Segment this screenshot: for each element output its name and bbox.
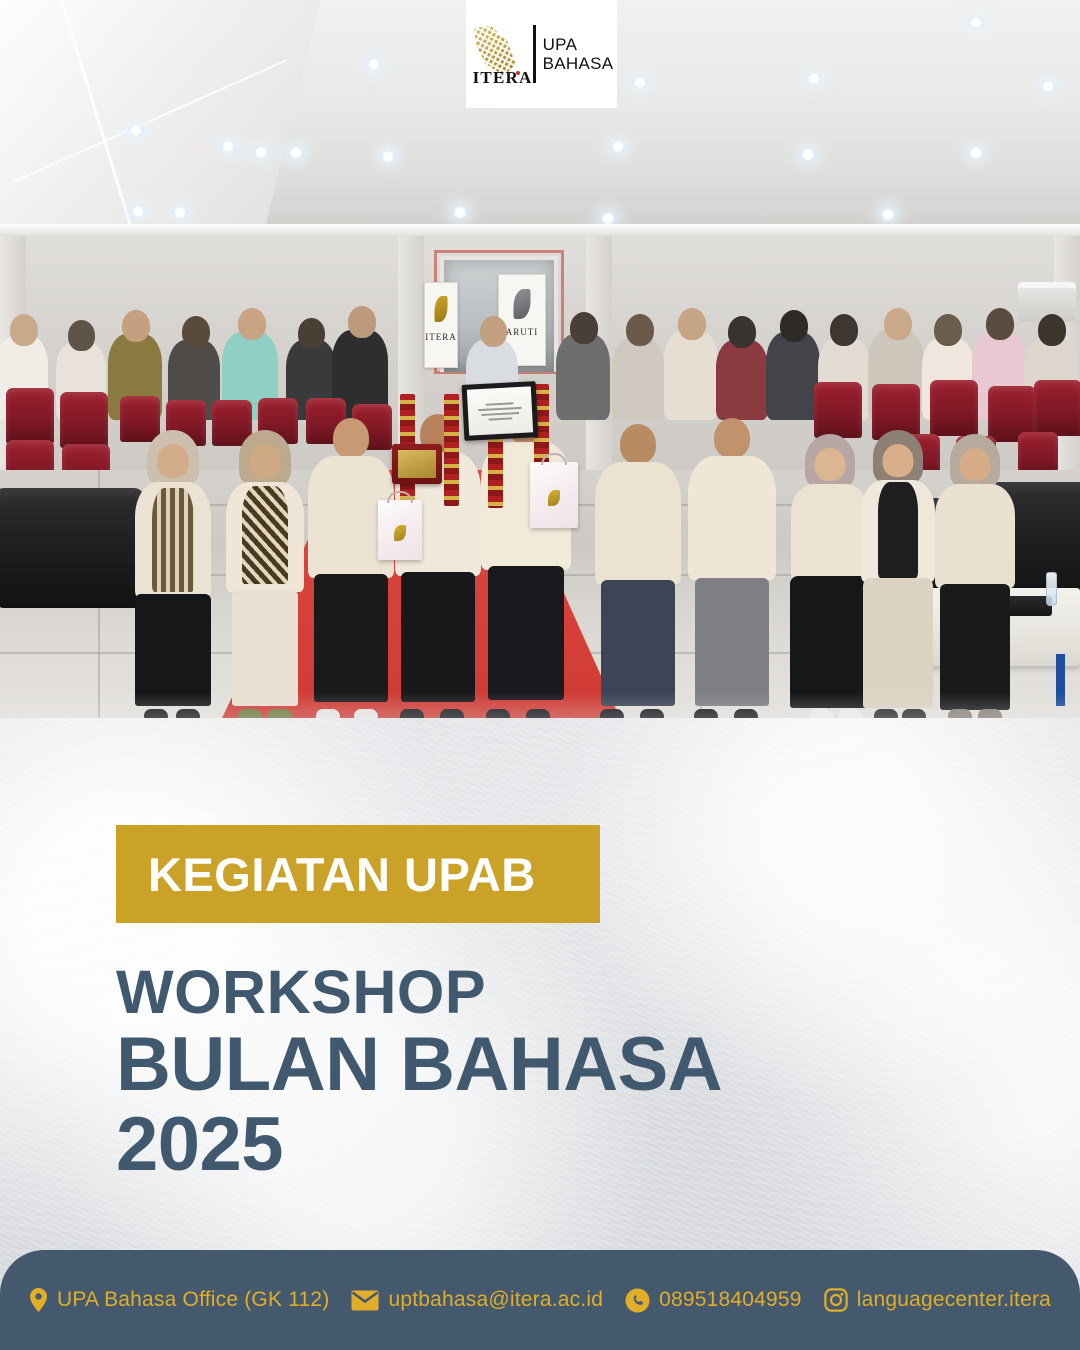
person-front-row	[306, 408, 396, 718]
itera-feather-icon: ITERA	[470, 22, 526, 86]
category-badge-label: KEGIATAN UPAB	[116, 847, 536, 902]
ceiling-spotlight	[452, 206, 468, 219]
ceiling-spotlight	[288, 146, 304, 159]
ceiling-spotlight	[968, 16, 984, 29]
ceiling-spotlight	[380, 150, 396, 163]
contact-item-address[interactable]: UPA Bahasa Office (GK 112)	[29, 1288, 330, 1312]
contact-item-whatsapp[interactable]: 089518404959	[625, 1288, 802, 1313]
person-front-row	[856, 416, 940, 718]
water-bottle	[1046, 572, 1057, 606]
person-front-row	[592, 412, 684, 718]
itera-wordmark: ITERA	[473, 68, 533, 88]
headline-block: WORKSHOP BULAN BAHASA 2025	[116, 960, 976, 1186]
award-plaque	[392, 444, 442, 484]
person-front-row	[130, 418, 216, 718]
framed-certificate	[462, 381, 539, 441]
upa-bahasa-logo-mark	[394, 525, 406, 541]
email-text: uptbahasa@itera.ac.id	[388, 1288, 603, 1312]
gift-bag	[530, 462, 578, 528]
location-pin-icon	[29, 1288, 48, 1312]
contact-item-instagram[interactable]: languagecenter.itera	[824, 1288, 1051, 1312]
ceiling-spotlight	[366, 58, 382, 71]
ceiling-spotlight	[800, 148, 816, 161]
gift-bag	[378, 500, 422, 560]
instagram-icon	[824, 1288, 848, 1312]
ceiling-spotlight	[1040, 80, 1056, 93]
ceiling-spotlight	[128, 124, 144, 137]
logo-unit-name: UPA BAHASA	[543, 35, 614, 73]
contact-item-email[interactable]: uptbahasa@itera.ac.id	[351, 1288, 603, 1312]
poster-canvas: ITERA ARUTI	[0, 0, 1080, 1350]
event-title: BULAN BAHASA 2025	[116, 1025, 976, 1186]
person-front-row	[222, 418, 308, 718]
ceiling-spotlight	[968, 146, 984, 159]
instagram-handle-text: languagecenter.itera	[857, 1288, 1051, 1312]
photo-bottom-fade	[0, 692, 1080, 718]
address-text: UPA Bahasa Office (GK 112)	[57, 1288, 330, 1312]
ceiling-spotlight	[253, 146, 269, 159]
logo-unit-line-2: BAHASA	[543, 54, 614, 73]
ceiling-spotlight	[806, 72, 822, 85]
sofa	[0, 488, 144, 608]
whatsapp-icon	[625, 1288, 650, 1313]
person-front-row	[932, 418, 1018, 718]
traditional-sash	[444, 394, 459, 506]
ceiling-spotlight	[220, 140, 236, 153]
logo-divider	[533, 25, 536, 83]
event-subtitle: WORKSHOP	[116, 960, 976, 1025]
ceiling-spotlight	[172, 206, 188, 219]
logo-unit-line-1: UPA	[543, 35, 614, 54]
upa-bahasa-itera-logo-card: ITERA UPA BAHASA	[466, 0, 617, 108]
person-front-row	[686, 410, 778, 718]
whatsapp-number-text: 089518404959	[659, 1288, 802, 1312]
ceiling-spotlight	[130, 205, 146, 218]
ceiling-spotlight	[632, 76, 648, 89]
ceiling-spotlight	[610, 140, 626, 153]
category-badge: KEGIATAN UPAB	[116, 825, 600, 923]
ceiling-spotlight	[880, 208, 896, 221]
upa-bahasa-logo-mark	[548, 490, 560, 506]
contact-footer-bar: UPA Bahasa Office (GK 112) uptbahasa@ite…	[0, 1250, 1080, 1350]
envelope-icon	[351, 1290, 379, 1311]
